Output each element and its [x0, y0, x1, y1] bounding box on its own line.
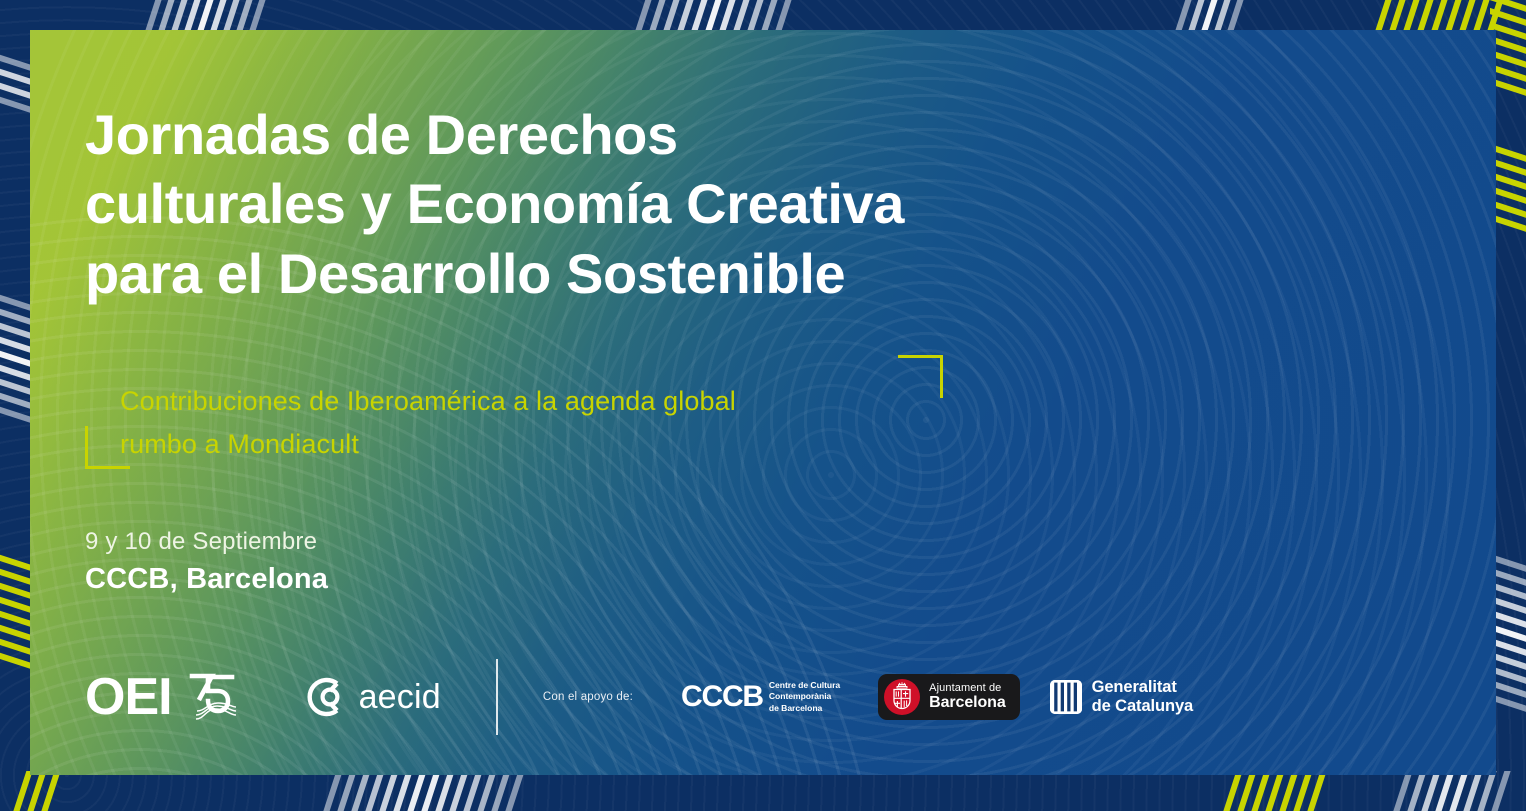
event-date: 9 y 10 de Septiembre [85, 528, 317, 556]
event-venue: CCCB, Barcelona [85, 563, 328, 596]
logo-ajuntament-barcelona: Ajuntament de Barcelona [878, 674, 1019, 720]
ajuntament-line-1: Ajuntament de [929, 682, 1005, 694]
catalan-senyera-icon [1050, 680, 1082, 714]
border-stripes-left [0, 0, 32, 811]
senyera-stripes [1050, 680, 1082, 714]
aecid-circle-icon [304, 675, 348, 719]
event-poster: Jornadas de Derechos culturales y Econom… [0, 0, 1526, 811]
logo-generalitat-catalunya: Generalitat de Catalunya [1050, 678, 1194, 716]
ajuntament-line-2: Barcelona [929, 694, 1005, 712]
subtitle-line-1: Contribuciones de Iberoamérica a la agen… [120, 380, 965, 423]
logo-oei: OEI [85, 671, 242, 723]
oei-wordmark: OEI [85, 671, 172, 723]
aecid-wordmark: aecid [359, 680, 441, 714]
generalitat-line-1: Generalitat [1092, 678, 1194, 697]
border-stripes-top [0, 0, 1526, 34]
title-line-3: para el Desarrollo Sostenible [85, 239, 1105, 308]
cccb-wordmark: CCCB [681, 682, 763, 712]
cccb-subtitle: Centre de Cultura Contemporània de Barce… [769, 680, 840, 714]
logo-cccb: CCCB Centre de Cultura Contemporània de … [681, 680, 840, 714]
corner-bracket-top-right-icon [898, 355, 943, 398]
logo-aecid: aecid [304, 675, 441, 719]
border-stripes-bottom [0, 771, 1526, 811]
title-line-2: culturales y Economía Creativa [85, 169, 1105, 238]
barcelona-seal [884, 679, 920, 715]
barcelona-coat-of-arms-icon [884, 679, 920, 715]
ajuntament-text: Ajuntament de Barcelona [929, 682, 1005, 712]
cccb-subtitle-line-3: de Barcelona [769, 703, 840, 714]
poster-content: Jornadas de Derechos culturales y Econom… [30, 30, 1496, 775]
logo-bar: OEI aecid [85, 657, 1193, 737]
subtitle-block: Contribuciones de Iberoamérica a la agen… [85, 355, 965, 465]
subtitle-line-2: rumbo a Mondiacult [120, 423, 965, 466]
oei-75-anniversary-icon [186, 671, 242, 723]
corner-bracket-bottom-left-icon [85, 426, 130, 469]
page-title: Jornadas de Derechos culturales y Econom… [85, 100, 1105, 308]
generalitat-line-2: de Catalunya [1092, 697, 1194, 716]
cccb-subtitle-line-1: Centre de Cultura [769, 680, 840, 691]
title-line-1: Jornadas de Derechos [85, 100, 1105, 169]
cccb-subtitle-line-2: Contemporània [769, 691, 840, 702]
main-panel: Jornadas de Derechos culturales y Econom… [30, 30, 1496, 775]
logo-divider [496, 659, 498, 735]
generalitat-text: Generalitat de Catalunya [1092, 678, 1194, 716]
support-label: Con el apoyo de: [543, 691, 633, 703]
subtitle: Contribuciones de Iberoamérica a la agen… [85, 355, 965, 465]
